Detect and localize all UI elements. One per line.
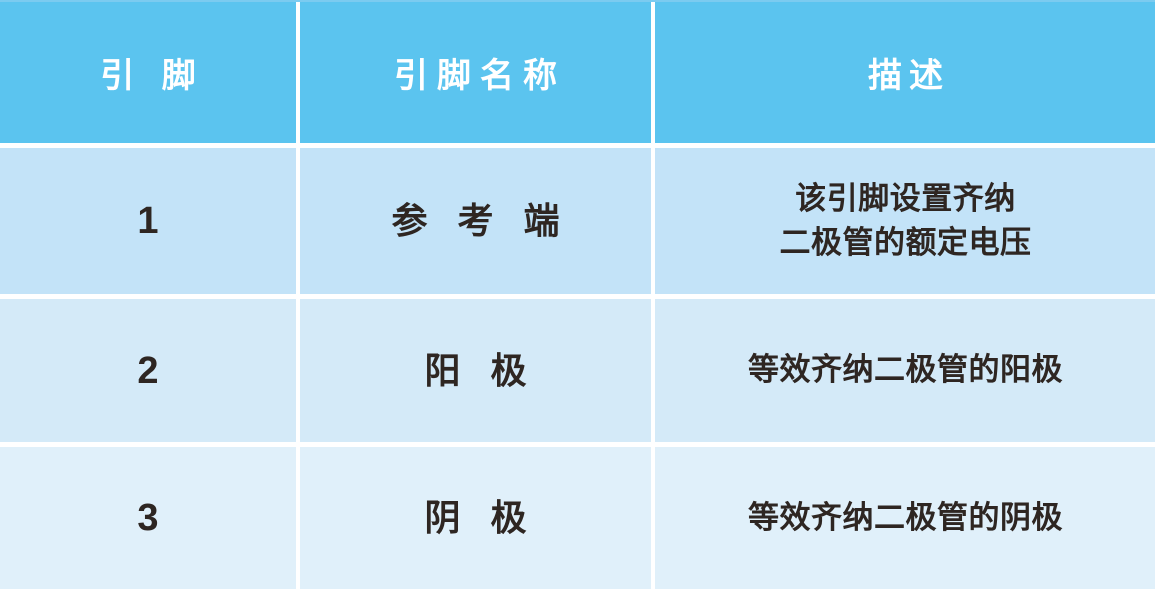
cell-pin-number: 1	[0, 148, 296, 294]
description-line: 等效齐纳二极管的阳极	[748, 348, 1063, 392]
pin-number-value: 2	[137, 352, 158, 390]
description-value: 该引脚设置齐纳 二极管的额定电压	[770, 177, 1042, 265]
table-row: 3 阴 极 等效齐纳二极管的阴极	[0, 447, 1155, 589]
header-cell-pin-name: 引脚名称	[300, 2, 651, 143]
description-line: 二极管的额定电压	[780, 221, 1032, 265]
header-cell-description: 描述	[655, 2, 1155, 143]
cell-pin-number: 3	[0, 447, 296, 589]
header-cell-pin: 引 脚	[0, 2, 296, 143]
pin-description-table: 引 脚 引脚名称 描述 1 参 考 端 该引脚设置齐纳 二极管的额定电压 2 阳	[0, 0, 1155, 575]
table-header-row: 引 脚 引脚名称 描述	[0, 2, 1155, 143]
cell-pin-name: 参 考 端	[300, 148, 651, 294]
pin-name-value: 参 考 端	[381, 199, 569, 242]
cell-description: 等效齐纳二极管的阳极	[655, 299, 1155, 442]
description-value: 等效齐纳二极管的阳极	[738, 348, 1073, 392]
cell-pin-number: 2	[0, 299, 296, 442]
cell-description: 该引脚设置齐纳 二极管的额定电压	[655, 148, 1155, 294]
pin-number-value: 1	[137, 202, 158, 240]
table-row: 2 阳 极 等效齐纳二极管的阳极	[0, 299, 1155, 442]
cell-pin-name: 阴 极	[300, 447, 651, 589]
pin-name-value: 阴 极	[414, 496, 536, 539]
description-line: 该引脚设置齐纳	[780, 177, 1032, 221]
table-row: 1 参 考 端 该引脚设置齐纳 二极管的额定电压	[0, 148, 1155, 294]
cell-description: 等效齐纳二极管的阴极	[655, 447, 1155, 589]
description-value: 等效齐纳二极管的阴极	[738, 496, 1073, 540]
description-line: 等效齐纳二极管的阴极	[748, 496, 1063, 540]
pin-number-value: 3	[137, 499, 158, 537]
pin-name-value: 阳 极	[414, 349, 536, 392]
cell-pin-name: 阳 极	[300, 299, 651, 442]
